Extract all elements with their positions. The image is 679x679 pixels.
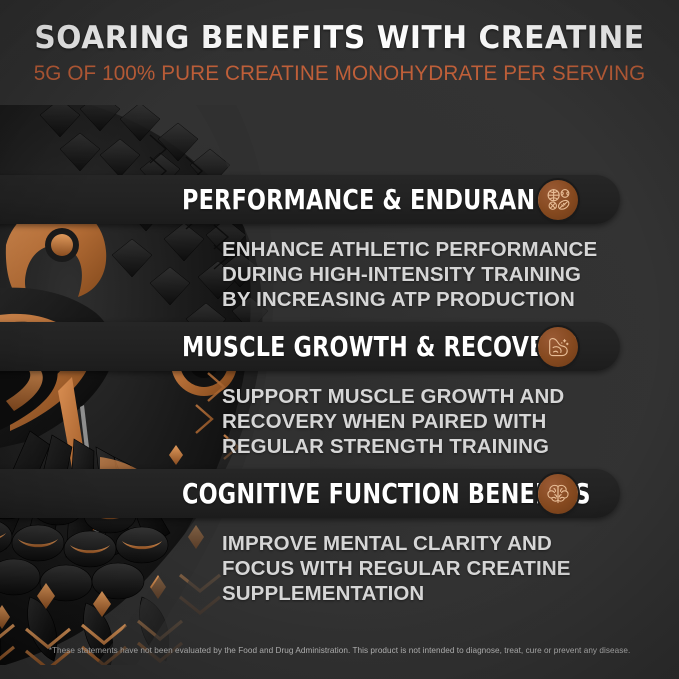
benefit-item: MUSCLE GROWTH & RECOVERY SUPPORT MUSCLE … xyxy=(0,322,679,459)
benefit-description: ENHANCE ATHLETIC PERFORMANCE DURING HIGH… xyxy=(222,237,679,312)
benefits-list: PERFORMANCE & ENDURANCE ENHANCE ATHLETIC… xyxy=(0,175,679,606)
page-subtitle: 5G OF 100% PURE CREATINE MONOHYDRATE PER… xyxy=(5,63,674,84)
benefit-title: MUSCLE GROWTH & RECOVERY xyxy=(182,333,577,361)
benefit-description-line: SUPPLEMENTATION xyxy=(222,581,679,606)
benefit-description-line: IMPROVE MENTAL CLARITY AND xyxy=(222,531,679,556)
brain-icon xyxy=(538,474,578,514)
page-title: SOARING BENEFITS WITH CREATINE xyxy=(20,22,658,55)
benefit-item: COGNITIVE FUNCTION BENEFITS IMPROVE MENT… xyxy=(0,469,679,606)
benefit-item: PERFORMANCE & ENDURANCE ENHANCE ATHLETIC… xyxy=(0,175,679,312)
benefit-description-line: BY INCREASING ATP PRODUCTION xyxy=(222,287,679,312)
flexed-bicep-icon xyxy=(538,327,578,367)
benefit-description-line: SUPPORT MUSCLE GROWTH AND xyxy=(222,384,679,409)
benefit-title-pill: PERFORMANCE & ENDURANCE xyxy=(0,175,620,224)
benefit-description-line: ENHANCE ATHLETIC PERFORMANCE xyxy=(222,237,679,262)
sports-balls-icon xyxy=(538,180,578,220)
benefit-description-line: REGULAR STRENGTH TRAINING xyxy=(222,434,679,459)
benefit-title: COGNITIVE FUNCTION BENEFITS xyxy=(182,480,591,508)
benefit-description-line: RECOVERY WHEN PAIRED WITH xyxy=(222,409,679,434)
benefit-description-line: FOCUS WITH REGULAR CREATINE xyxy=(222,556,679,581)
benefit-title: PERFORMANCE & ENDURANCE xyxy=(182,186,567,214)
benefit-description-line: DURING HIGH-INTENSITY TRAINING xyxy=(222,262,679,287)
benefit-description: IMPROVE MENTAL CLARITY AND FOCUS WITH RE… xyxy=(222,531,679,606)
header: SOARING BENEFITS WITH CREATINE 5G OF 100… xyxy=(0,22,679,84)
benefit-description: SUPPORT MUSCLE GROWTH AND RECOVERY WHEN … xyxy=(222,384,679,459)
benefit-title-pill: COGNITIVE FUNCTION BENEFITS xyxy=(0,469,620,518)
benefit-title-pill: MUSCLE GROWTH & RECOVERY xyxy=(0,322,620,371)
fda-disclaimer: *These statements have not been evaluate… xyxy=(0,646,679,655)
